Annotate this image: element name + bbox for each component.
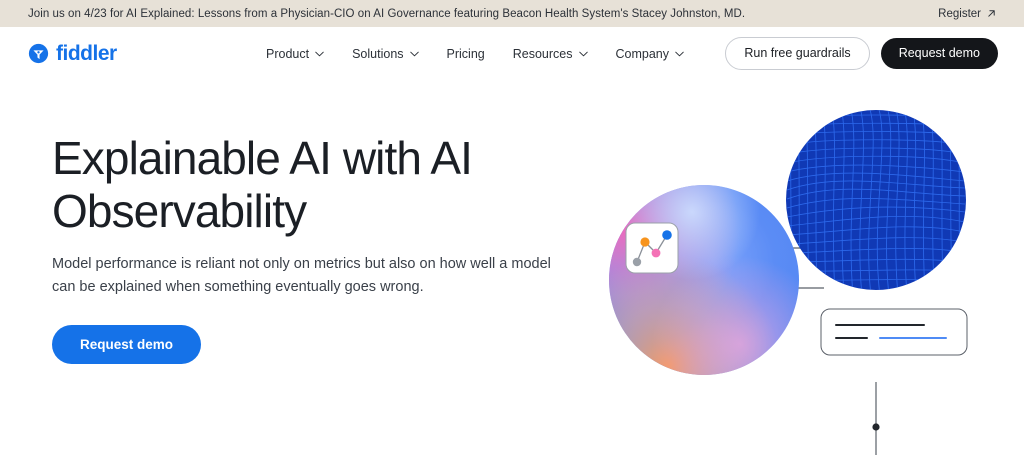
run-free-guardrails-button[interactable]: Run free guardrails xyxy=(725,37,869,70)
nav-item-resources-label: Resources xyxy=(513,47,573,61)
page-title: Explainable AI with AI Observability xyxy=(52,132,592,239)
site-header: fiddler Product Solutions Pricing Resour… xyxy=(0,27,1024,80)
hero-illustration xyxy=(604,80,1024,455)
pink-dot xyxy=(652,249,661,258)
nav-item-company[interactable]: Company xyxy=(602,41,699,67)
nav-item-solutions[interactable]: Solutions xyxy=(338,41,432,67)
header-actions: Run free guardrails Request demo xyxy=(725,37,998,70)
blue-dot xyxy=(662,230,672,240)
main-navigation: Product Solutions Pricing Resources Comp… xyxy=(252,41,698,67)
nav-item-pricing-label: Pricing xyxy=(447,47,485,61)
nav-item-resources[interactable]: Resources xyxy=(499,41,602,67)
hero-title-line-1: Explainable AI with AI xyxy=(52,132,472,184)
fiddler-logo-icon xyxy=(28,43,49,64)
hero-subtitle: Model performance is reliant not only on… xyxy=(52,253,562,300)
announcement-register-link[interactable]: Register xyxy=(938,8,996,20)
request-demo-header-button[interactable]: Request demo xyxy=(881,38,998,69)
request-demo-hero-button[interactable]: Request demo xyxy=(52,325,201,365)
hero-subtitle-line-2: can be explained when something eventual… xyxy=(52,279,424,295)
nav-item-product[interactable]: Product xyxy=(252,41,338,67)
scatter-chart-card xyxy=(626,223,678,273)
chevron-down-icon xyxy=(410,51,419,57)
gray-dot xyxy=(633,258,641,266)
chevron-down-icon xyxy=(579,51,588,57)
blue-mesh-sphere xyxy=(778,101,974,296)
hero-section: Explainable AI with AI Observability Mod… xyxy=(0,80,1024,455)
gradient-sphere xyxy=(604,180,804,380)
metrics-card xyxy=(820,308,968,356)
nav-item-solutions-label: Solutions xyxy=(352,47,403,61)
nav-item-product-label: Product xyxy=(266,47,309,61)
announcement-text: Join us on 4/23 for AI Explained: Lesson… xyxy=(28,8,745,20)
nav-item-pricing[interactable]: Pricing xyxy=(433,41,499,67)
nav-item-company-label: Company xyxy=(616,47,670,61)
arrow-up-right-icon xyxy=(987,9,996,18)
hero-title-line-2: Observability xyxy=(52,185,306,237)
hero-copy: Explainable AI with AI Observability Mod… xyxy=(52,132,592,364)
chevron-down-icon xyxy=(315,51,324,57)
brand-logo-link[interactable]: fiddler xyxy=(28,42,117,66)
hero-subtitle-line-1: Model performance is reliant not only on… xyxy=(52,256,551,272)
connector-node-dot xyxy=(872,423,879,430)
brand-name: fiddler xyxy=(56,42,117,66)
orange-dot xyxy=(640,237,649,246)
announcement-register-label: Register xyxy=(938,8,981,20)
chevron-down-icon xyxy=(675,51,684,57)
announcement-banner: Join us on 4/23 for AI Explained: Lesson… xyxy=(0,0,1024,27)
